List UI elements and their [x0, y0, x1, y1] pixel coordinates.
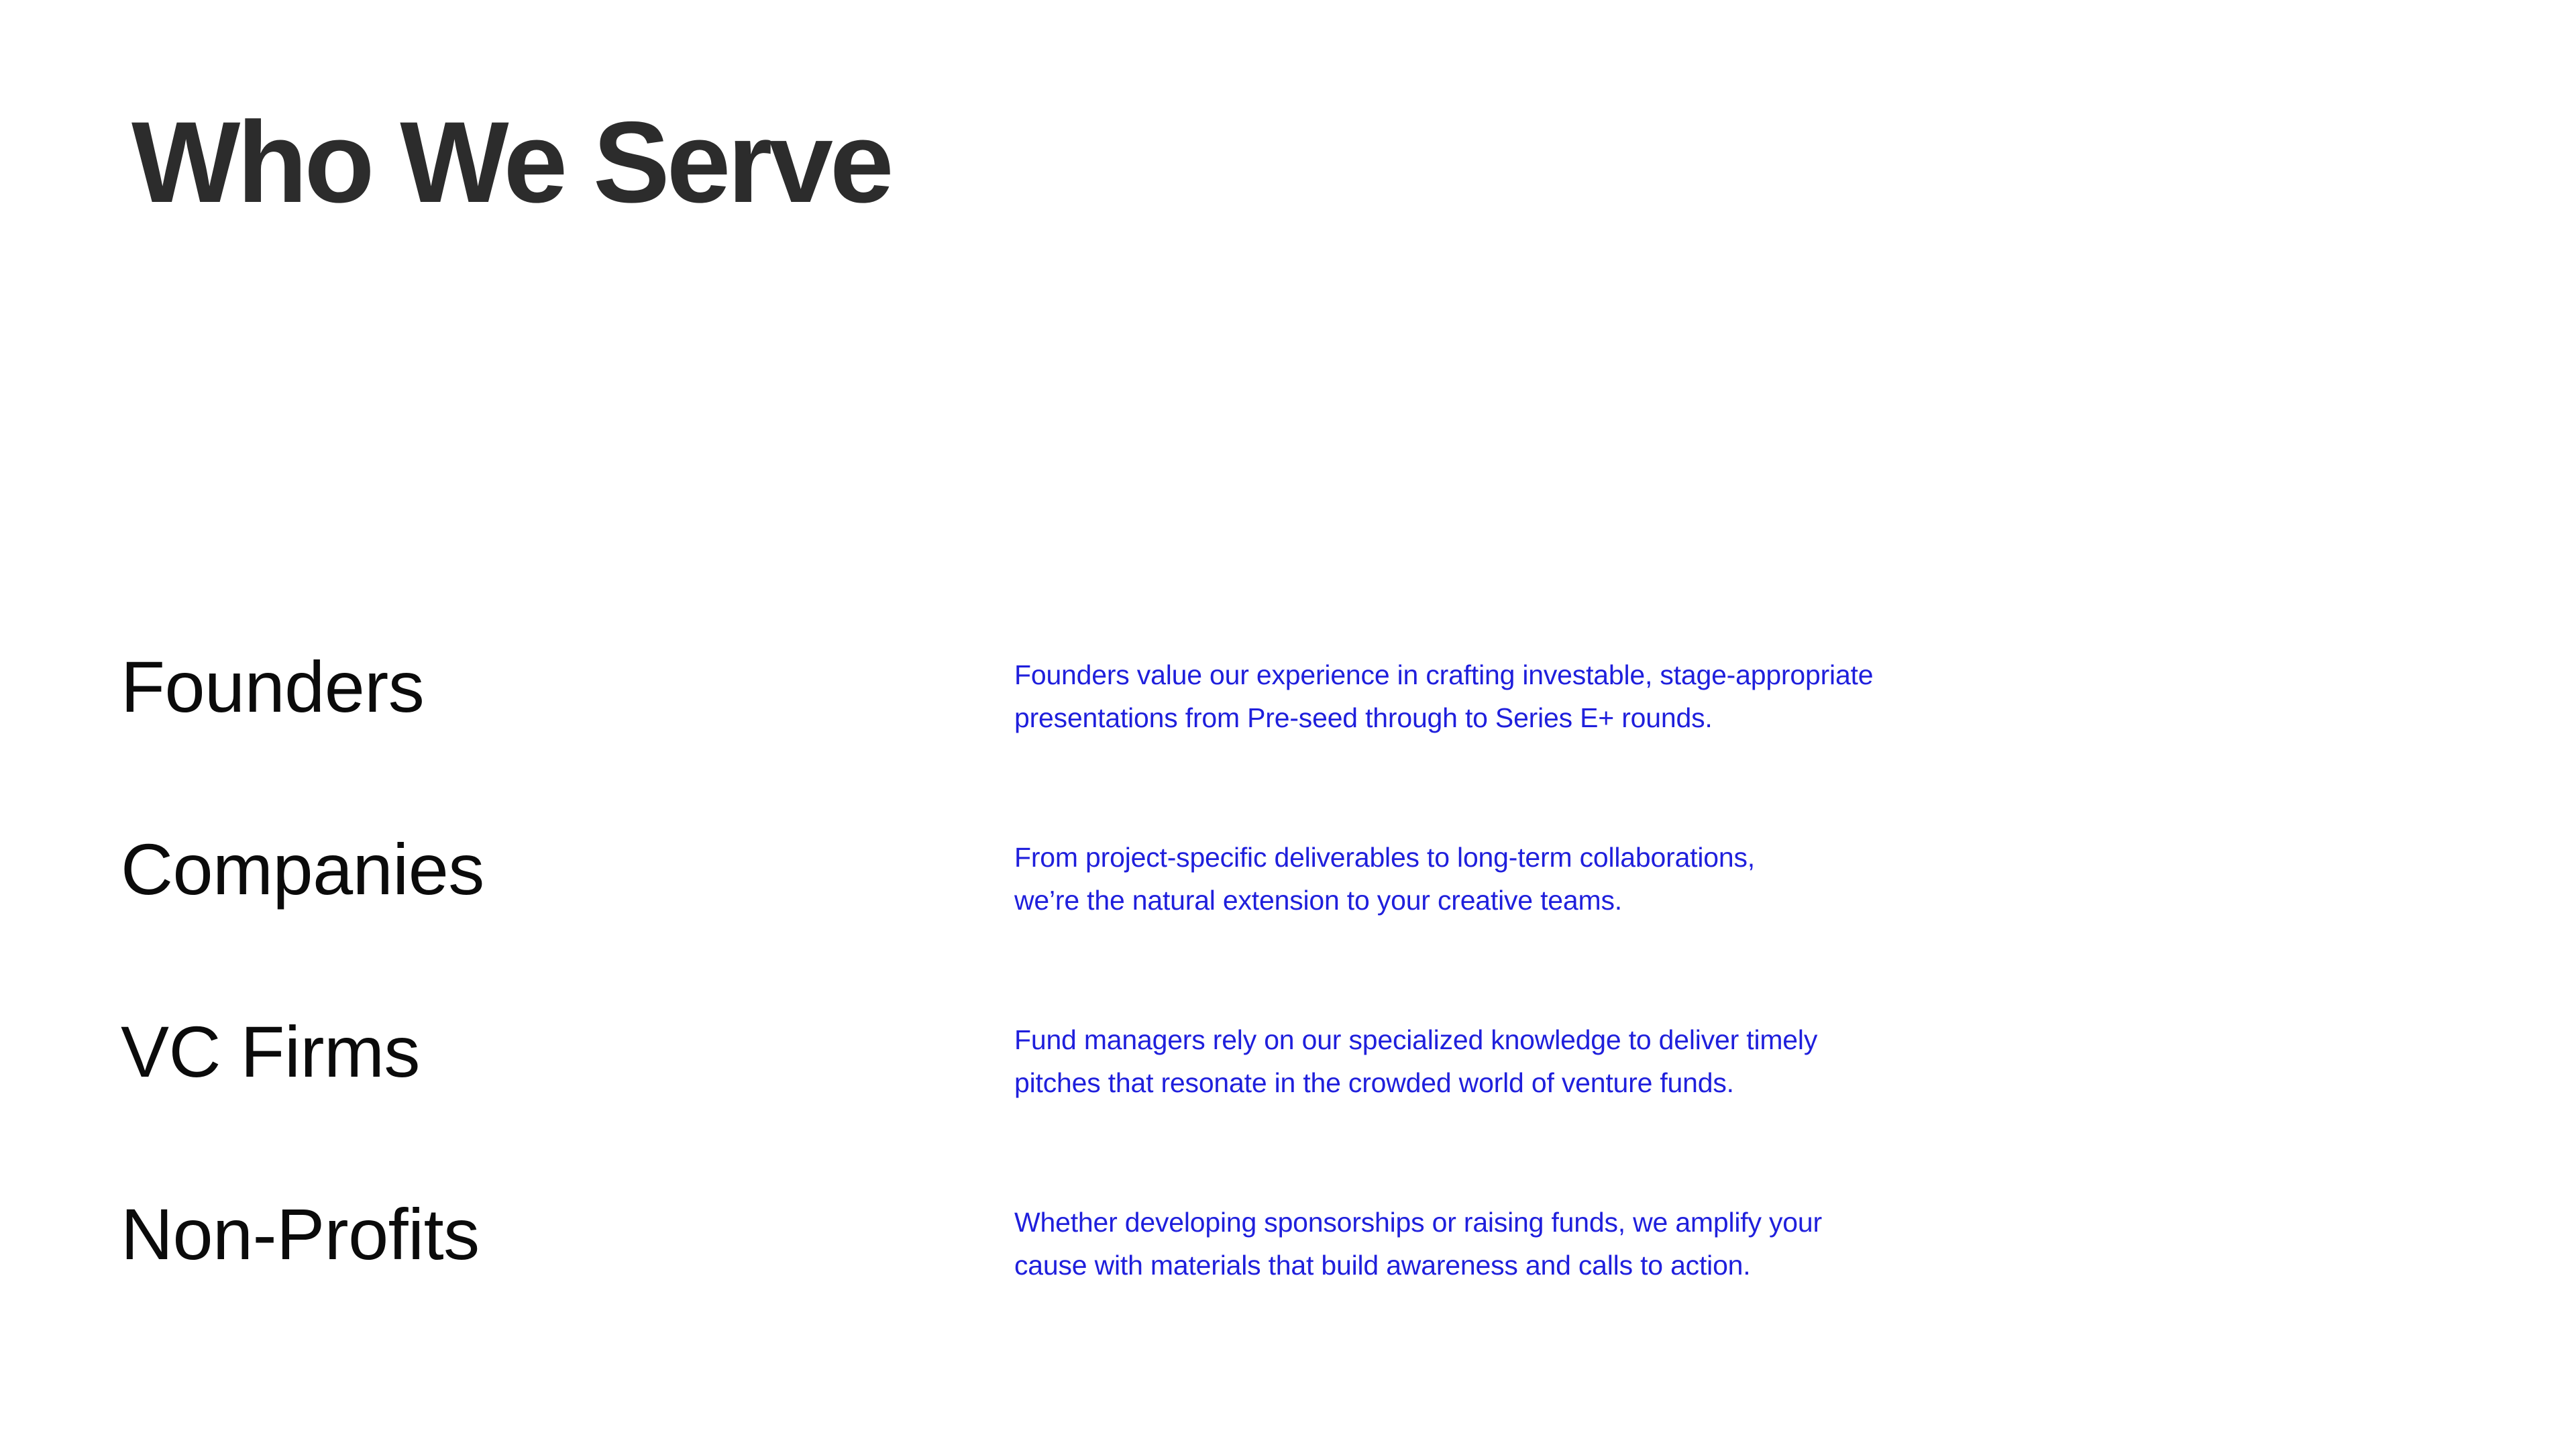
audience-description-line: pitches that resonate in the crowded wor… — [1014, 1061, 2396, 1104]
audience-row-vc-firms: VC Firms Fund managers rely on our speci… — [0, 1009, 2576, 1191]
audience-description-founders: Founders value our experience in craftin… — [1014, 653, 2396, 739]
audience-description-line: From project-specific deliverables to lo… — [1014, 836, 2396, 879]
audience-description-line: cause with materials that build awarenes… — [1014, 1244, 2396, 1287]
audience-description-line: Fund managers rely on our specialized kn… — [1014, 1018, 2396, 1061]
page-title: Who We Serve — [131, 102, 891, 223]
audience-description-non-profits: Whether developing sponsorships or raisi… — [1014, 1201, 2396, 1287]
audience-label-vc-firms: VC Firms — [121, 1009, 420, 1094]
audience-description-line: presentations from Pre-seed through to S… — [1014, 696, 2396, 739]
audience-description-line: Founders value our experience in craftin… — [1014, 653, 2396, 696]
audience-description-vc-firms: Fund managers rely on our specialized kn… — [1014, 1018, 2396, 1104]
slide-canvas: Who We Serve Founders Founders value our… — [0, 0, 2576, 1449]
audience-row-companies: Companies From project-specific delivera… — [0, 826, 2576, 1009]
audience-label-non-profits: Non-Profits — [121, 1191, 480, 1277]
audience-label-companies: Companies — [121, 826, 484, 912]
audience-description-companies: From project-specific deliverables to lo… — [1014, 836, 2396, 922]
audience-label-founders: Founders — [121, 644, 424, 729]
audience-description-line: we’re the natural extension to your crea… — [1014, 879, 2396, 922]
audience-row-founders: Founders Founders value our experience i… — [0, 644, 2576, 826]
audience-row-non-profits: Non-Profits Whether developing sponsorsh… — [0, 1191, 2576, 1374]
audience-list: Founders Founders value our experience i… — [0, 644, 2576, 1374]
audience-description-line: Whether developing sponsorships or raisi… — [1014, 1201, 2396, 1244]
